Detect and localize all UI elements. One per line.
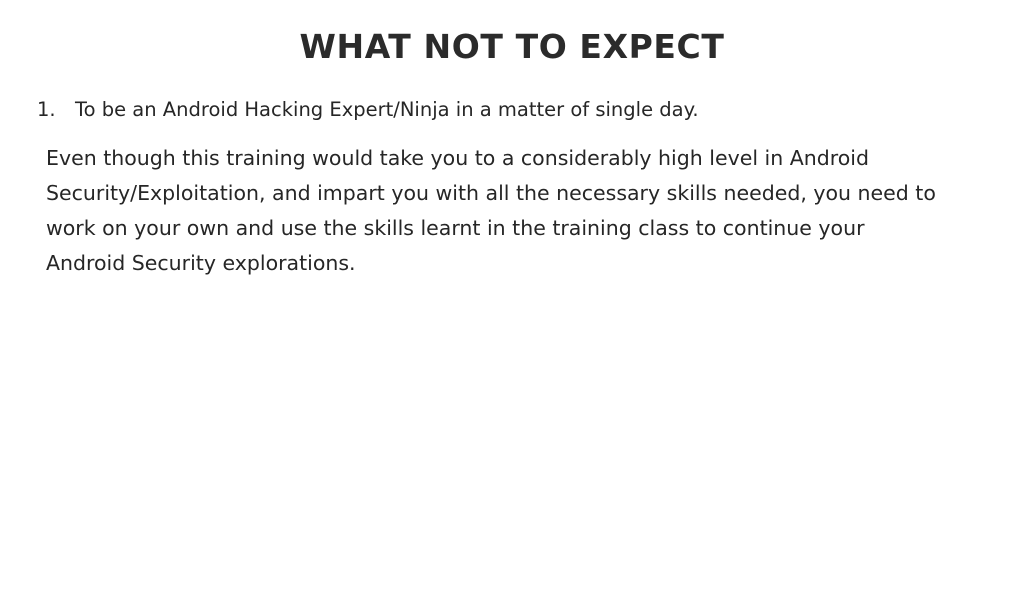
numbered-list: 1. To be an Android Hacking Expert/Ninja… <box>0 96 1024 124</box>
list-item-label: To be an Android Hacking Expert/Ninja in… <box>75 98 699 121</box>
list-item-marker: 1. <box>37 96 56 124</box>
list-item: 1. To be an Android Hacking Expert/Ninja… <box>0 96 1024 124</box>
slide-canvas: WHAT NOT TO EXPECT 1. To be an Android H… <box>0 0 1024 598</box>
body-paragraph: Even though this training would take you… <box>0 141 1024 282</box>
page-title: WHAT NOT TO EXPECT <box>0 29 1024 66</box>
slide-body: 1. To be an Android Hacking Expert/Ninja… <box>0 96 1024 282</box>
